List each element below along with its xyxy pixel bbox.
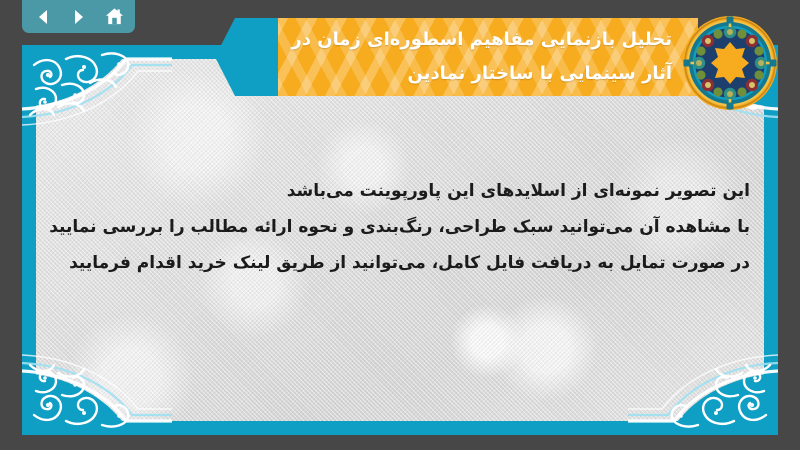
- slide-title-banner: تحلیل بازنمایی مفاهیم اسطوره‌ای زمان در …: [278, 18, 698, 96]
- body-line-2: با مشاهده آن می‌توانید سبک طراحی، رنگ‌بن…: [22, 209, 750, 245]
- forward-arrow-icon[interactable]: [68, 6, 90, 28]
- home-icon[interactable]: [104, 6, 126, 28]
- title-line-2: آثار سینمایی با ساختار نمادین: [407, 57, 672, 91]
- back-arrow-icon[interactable]: [32, 6, 54, 28]
- body-line-3: در صورت تمایل به دریافت فایل کامل، می‌تو…: [22, 245, 750, 281]
- circular-medallion-icon: [681, 14, 779, 112]
- slide-frame: این تصویر نمونه‌ای از اسلایدهای این پاور…: [22, 45, 778, 435]
- body-line-1: این تصویر نمونه‌ای از اسلایدهای این پاور…: [22, 173, 750, 209]
- slide-navigation-panel[interactable]: [22, 0, 135, 33]
- title-line-1: تحلیل بازنمایی مفاهیم اسطوره‌ای زمان در: [291, 23, 672, 57]
- slide-body-text: این تصویر نمونه‌ای از اسلایدهای این پاور…: [22, 173, 750, 281]
- banner-chevron-tail: [215, 18, 281, 96]
